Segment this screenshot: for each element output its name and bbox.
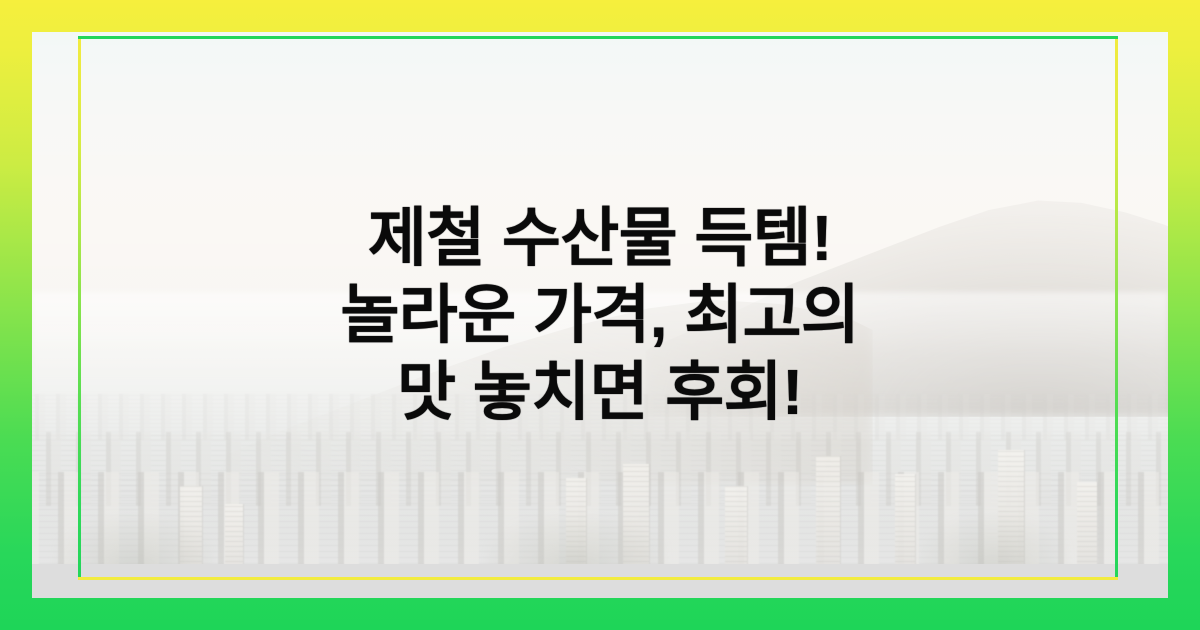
- promo-poster: 제철 수산물 득템! 놀라운 가격, 최고의 맛 놓치면 후회!: [0, 0, 1200, 630]
- headline: 제철 수산물 득템! 놀라운 가격, 최고의 맛 놓치면 후회!: [0, 200, 1200, 431]
- apartment-tower: [816, 456, 840, 582]
- treeline: [486, 511, 666, 571]
- headline-line-2: 놀라운 가격, 최고의: [0, 277, 1200, 354]
- headline-line-1: 제철 수산물 득템!: [0, 200, 1200, 277]
- treeline: [55, 511, 215, 571]
- bottom-grey-strip: [32, 564, 1168, 598]
- headline-line-3: 맛 놓치면 후회!: [0, 354, 1200, 431]
- treeline: [918, 511, 1068, 571]
